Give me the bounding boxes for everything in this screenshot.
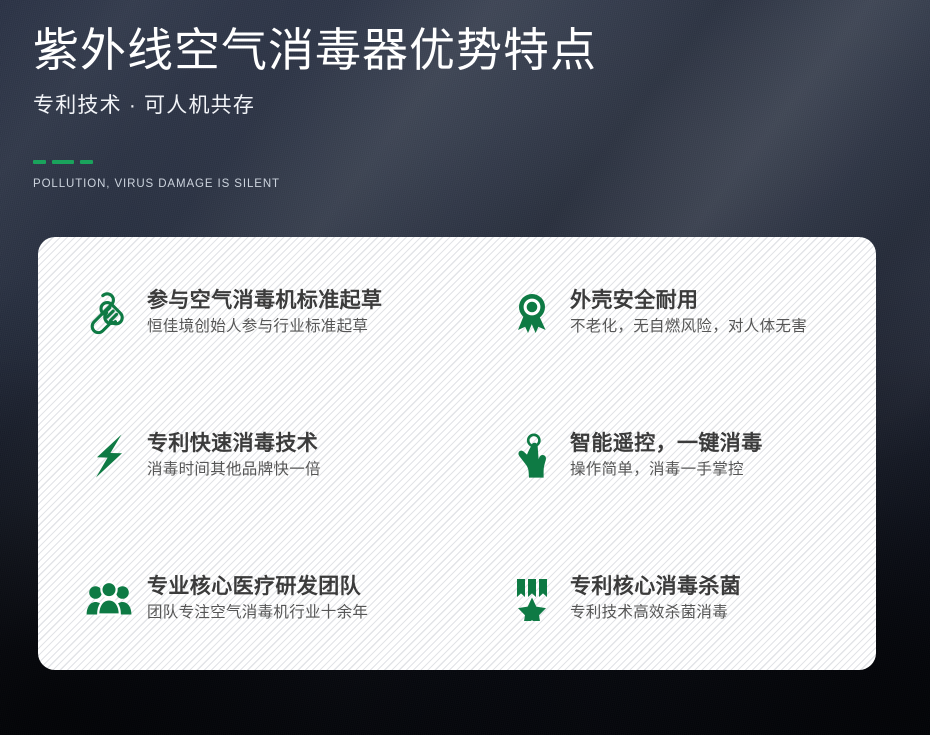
feature-desc: 不老化，无自燃风险，对人体无害 [570,318,807,336]
feature-item: 专利核心消毒杀菌 专利技术高效杀菌消毒 [499,527,876,670]
feature-desc: 消毒时间其他品牌快一倍 [147,461,321,479]
team-people-icon [86,574,132,624]
ribbon-star-icon [509,574,555,624]
feature-title: 专利核心消毒杀菌 [570,575,741,599]
feature-text: 外壳安全耐用 不老化，无自燃风险，对人体无害 [570,289,807,335]
dash-segment-1 [33,160,46,164]
english-tagline: POLLUTION, VIRUS DAMAGE IS SILENT [33,178,597,190]
poster-root: 紫外线空气消毒器优势特点 专利技术 · 可人机共存 POLLUTION, VIR… [0,0,930,735]
award-medal-icon [509,288,555,338]
page-subtitle: 专利技术 · 可人机共存 [33,89,597,119]
feature-title: 智能遥控，一键消毒 [570,432,763,456]
feature-title: 外壳安全耐用 [570,289,807,313]
feature-desc: 专利技术高效杀菌消毒 [570,604,741,622]
feature-desc: 恒佳境创始人参与行业标准起草 [147,318,382,336]
feature-item: 外壳安全耐用 不老化，无自燃风险，对人体无害 [499,241,876,384]
feature-title: 专业核心医疗研发团队 [147,575,368,599]
feature-text: 专业核心医疗研发团队 团队专注空气消毒机行业十余年 [147,575,368,621]
feature-item: 智能遥控，一键消毒 操作简单，消毒一手掌控 [499,384,876,527]
feature-title: 专利快速消毒技术 [147,432,321,456]
feature-desc: 团队专注空气消毒机行业十余年 [147,604,368,622]
features-card: 参与空气消毒机标准起草 恒佳境创始人参与行业标准起草 外壳安全耐用 [38,237,876,670]
feature-text: 参与空气消毒机标准起草 恒佳境创始人参与行业标准起草 [147,289,382,335]
features-grid: 参与空气消毒机标准起草 恒佳境创始人参与行业标准起草 外壳安全耐用 [38,237,876,670]
lightning-bolt-icon [86,431,132,481]
tap-hand-icon [509,431,555,481]
dash-segment-2 [52,160,74,164]
feature-title: 参与空气消毒机标准起草 [147,289,382,313]
poster-header: 紫外线空气消毒器优势特点 专利技术 · 可人机共存 POLLUTION, VIR… [33,24,597,190]
green-dash-divider [33,160,597,164]
dash-segment-3 [80,160,93,164]
feature-text: 专利核心消毒杀菌 专利技术高效杀菌消毒 [570,575,741,621]
feature-text: 智能遥控，一键消毒 操作简单，消毒一手掌控 [570,432,763,478]
feature-text: 专利快速消毒技术 消毒时间其他品牌快一倍 [147,432,321,478]
feature-desc: 操作简单，消毒一手掌控 [570,461,763,479]
scroll-document-icon [86,288,132,338]
feature-item: 专利快速消毒技术 消毒时间其他品牌快一倍 [38,384,499,527]
feature-item: 专业核心医疗研发团队 团队专注空气消毒机行业十余年 [38,527,499,670]
feature-item: 参与空气消毒机标准起草 恒佳境创始人参与行业标准起草 [38,241,499,384]
page-title: 紫外线空气消毒器优势特点 [33,24,597,77]
